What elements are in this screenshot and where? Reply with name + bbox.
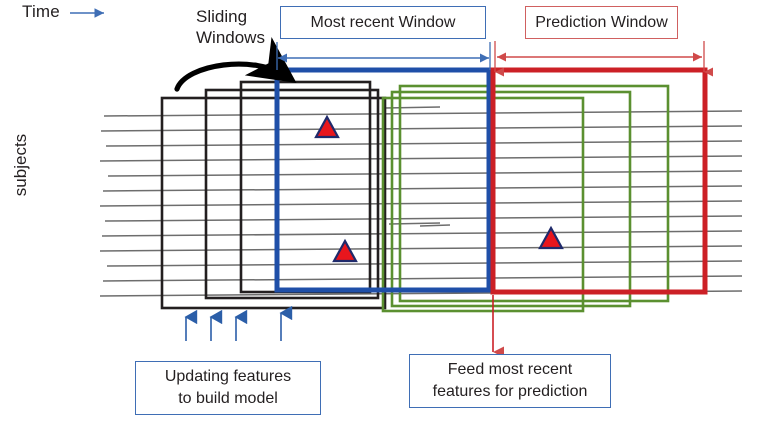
prediction-window-callout-text: Prediction Window	[535, 14, 668, 32]
sliding-windows-label-line1: Sliding	[196, 6, 288, 27]
time-axis-label: Time	[22, 2, 60, 22]
sliding-windows-label: Sliding Windows	[196, 6, 288, 48]
most-recent-window-callout: Most recent Window	[280, 6, 486, 39]
sliding-windows-label-line2: Windows	[196, 27, 288, 48]
diagram-canvas: Time subjects Sliding Windows Most recen…	[0, 0, 778, 422]
event-marker-1	[316, 117, 338, 137]
updating-features-callout: Updating features to build model	[135, 361, 321, 415]
subject-line-fragments	[385, 107, 450, 226]
most-recent-window-span-arrow	[277, 42, 490, 70]
prediction-window-callout: Prediction Window	[525, 6, 678, 39]
diagram-graphics-layer	[0, 0, 778, 422]
feature-window-2	[392, 92, 630, 306]
feed-features-callout-line2: features for prediction	[433, 381, 588, 403]
most-recent-window-callout-text: Most recent Window	[311, 14, 456, 32]
subjects-axis-label: subjects	[11, 120, 31, 210]
subject-lines	[100, 111, 742, 296]
updating-features-callout-line1: Updating features	[165, 366, 291, 388]
prediction-window-span-arrow	[495, 41, 704, 72]
updating-features-callout-line2: to build model	[178, 388, 278, 410]
event-marker-3	[540, 228, 562, 248]
updating-features-arrows	[186, 313, 281, 341]
prediction-window-rect	[493, 70, 705, 292]
feed-features-callout-line1: Feed most recent	[448, 359, 573, 381]
feature-window-3	[400, 86, 668, 301]
feed-features-callout: Feed most recent features for prediction	[409, 354, 611, 408]
history-window-2	[206, 90, 378, 298]
sliding-windows-curved-arrow	[177, 64, 288, 89]
event-marker-2	[334, 241, 356, 261]
